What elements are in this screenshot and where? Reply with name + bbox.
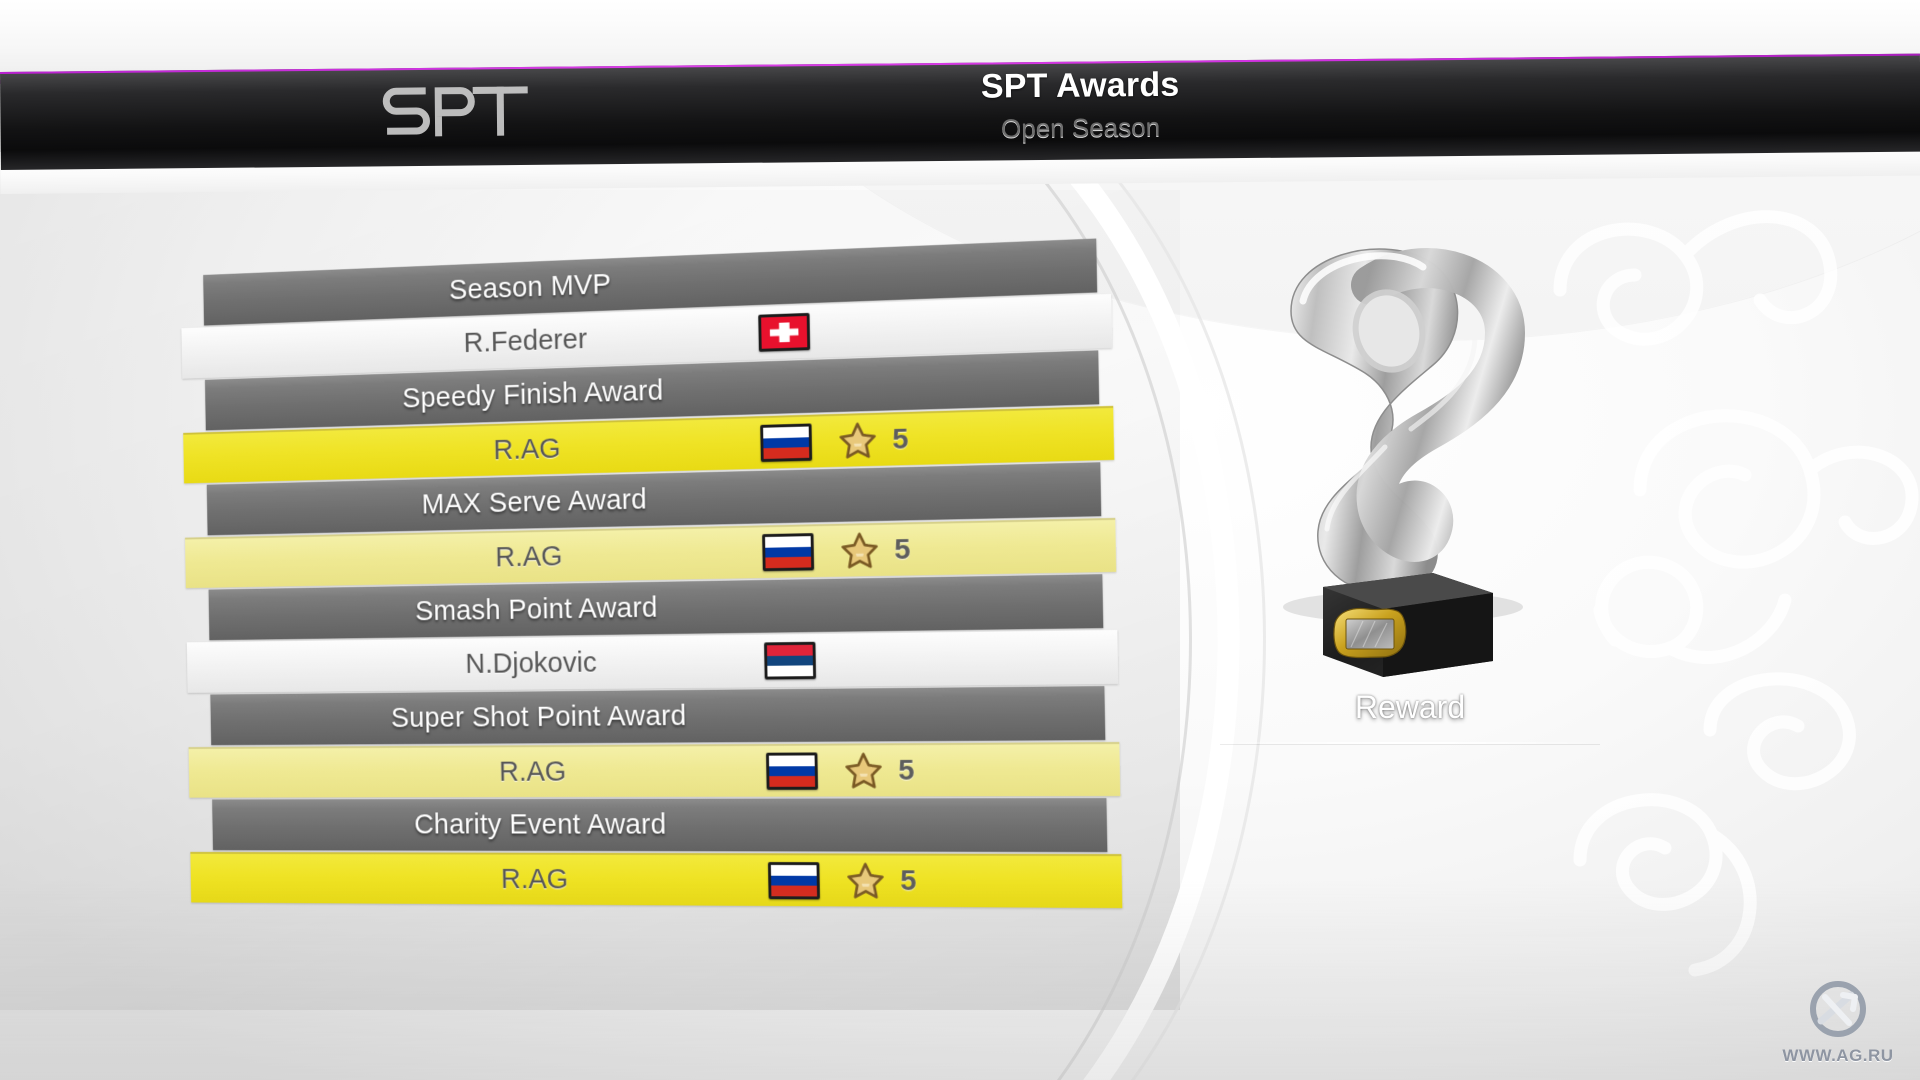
awards-list: Season MVP R.Federer Speedy Finish Award… [167,238,1116,878]
flag-russia-icon [762,533,814,571]
watermark-text: WWW.AG.RU [1778,1046,1898,1066]
reward-panel: Reward [1175,215,1645,815]
award-winner-row[interactable]: N.Djokovic [187,630,1118,693]
star-count: 5 [898,754,951,788]
award-title-row: Charity Event Award [212,798,1107,852]
header-content: SPT Awards Open Season [0,54,1920,170]
award-title-row: Super Shot Point Award [210,686,1105,745]
award-winner-row[interactable]: R.AG 5 [189,742,1121,798]
award-row-spacer [810,327,933,331]
award-title-label: Super Shot Point Award [210,696,1105,736]
flag-serbia-icon [764,642,816,680]
winner-name: N.Djokovic [187,645,750,684]
page-title: SPT Awards [760,61,1400,111]
header-title-block: SPT Awards Open Season [760,61,1401,151]
star-count: 5 [894,532,947,567]
award-title-label: MAX Serve Award [207,472,1101,526]
reward-divider [1220,742,1600,744]
flag-russia-icon [766,752,818,789]
star-icon [834,530,885,572]
awards-screen: SPT Awards Open Season Season MVP R.Fede… [0,0,1920,1080]
trophy-icon [1175,215,1645,685]
flag-russia-icon [760,423,812,462]
winner-name: R.AG [185,536,747,579]
winner-name: R.AG [189,755,752,789]
star-icon [840,860,891,902]
award-title-label: Charity Event Award [212,808,1107,842]
watermark: WWW.AG.RU [1778,979,1898,1066]
star-count: 5 [900,864,953,898]
star-count: 5 [892,422,945,457]
winner-name: R.AG [183,427,745,475]
reward-label: Reward [1175,689,1645,726]
winner-name: R.Federer [182,317,744,369]
award-title-label: Smash Point Award [209,584,1103,631]
flag-russia-icon [768,862,820,899]
star-icon [832,419,883,462]
winner-name: R.AG [191,862,754,897]
award-row-spacer [816,659,939,660]
ag-ru-logo-icon [1803,979,1873,1045]
flag-switzerland-icon [758,313,810,352]
star-icon [838,750,889,791]
page-subtitle: Open Season [760,105,1400,151]
spt-logo-icon [375,73,536,147]
award-winner-row[interactable]: R.AG 5 [190,852,1122,908]
